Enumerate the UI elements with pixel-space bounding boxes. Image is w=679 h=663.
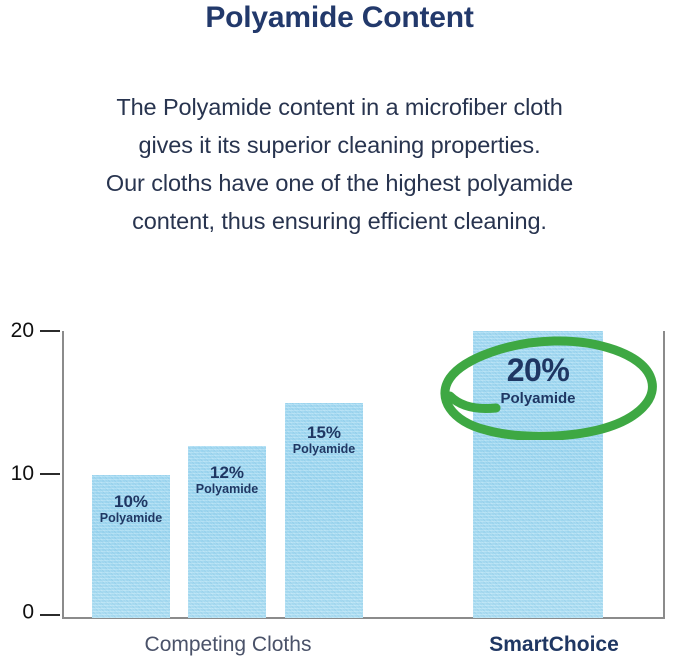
bar-competing-2: 12% Polyamide	[188, 446, 266, 618]
bar-competing-1: 10% Polyamide	[92, 475, 170, 618]
polyamide-content-infographic: Polyamide Content The Polyamide content …	[0, 0, 679, 663]
bar-2-label: 12% Polyamide	[188, 463, 266, 496]
bar-3-percent: 15%	[285, 423, 363, 442]
chart-right-border	[663, 331, 665, 619]
description-line-2: gives it its superior cleaning propertie…	[0, 126, 679, 164]
y-tick-mark-10	[40, 473, 60, 475]
bar-1-percent: 10%	[92, 492, 170, 511]
x-axis-label-competing-cloths: Competing Cloths	[92, 633, 364, 657]
y-axis-line	[62, 331, 64, 618]
bar-2-material: Polyamide	[188, 482, 266, 496]
page-description: The Polyamide content in a microfiber cl…	[0, 88, 679, 240]
y-tick-mark-20	[40, 330, 60, 332]
y-tick-mark-0	[40, 614, 60, 616]
bar-smartchoice: 20% Polyamide	[473, 331, 603, 618]
bar-competing-3: 15% Polyamide	[285, 403, 363, 618]
bar-4-material: Polyamide	[473, 391, 603, 408]
y-tick-label-10: 10	[0, 462, 34, 486]
bar-4-label: 20% Polyamide	[473, 353, 603, 408]
bar-2-percent: 12%	[188, 463, 266, 482]
y-tick-label-20: 20	[0, 319, 34, 343]
bar-3-label: 15% Polyamide	[285, 423, 363, 456]
x-axis-label-smartchoice: SmartChoice	[448, 633, 660, 657]
description-line-3: Our cloths have one of the highest polya…	[0, 164, 679, 202]
description-line-4: content, thus ensuring efficient cleanin…	[0, 202, 679, 240]
page-title: Polyamide Content	[0, 1, 679, 35]
bar-1-material: Polyamide	[92, 511, 170, 525]
bar-4-percent: 20%	[473, 353, 603, 389]
description-line-1: The Polyamide content in a microfiber cl…	[0, 88, 679, 126]
bar-1-label: 10% Polyamide	[92, 492, 170, 525]
y-tick-label-0: 0	[0, 601, 34, 625]
bar-3-material: Polyamide	[285, 442, 363, 456]
polyamide-bar-chart: 20 10 0 10% Polyamide 12% Polyamide	[0, 300, 679, 663]
